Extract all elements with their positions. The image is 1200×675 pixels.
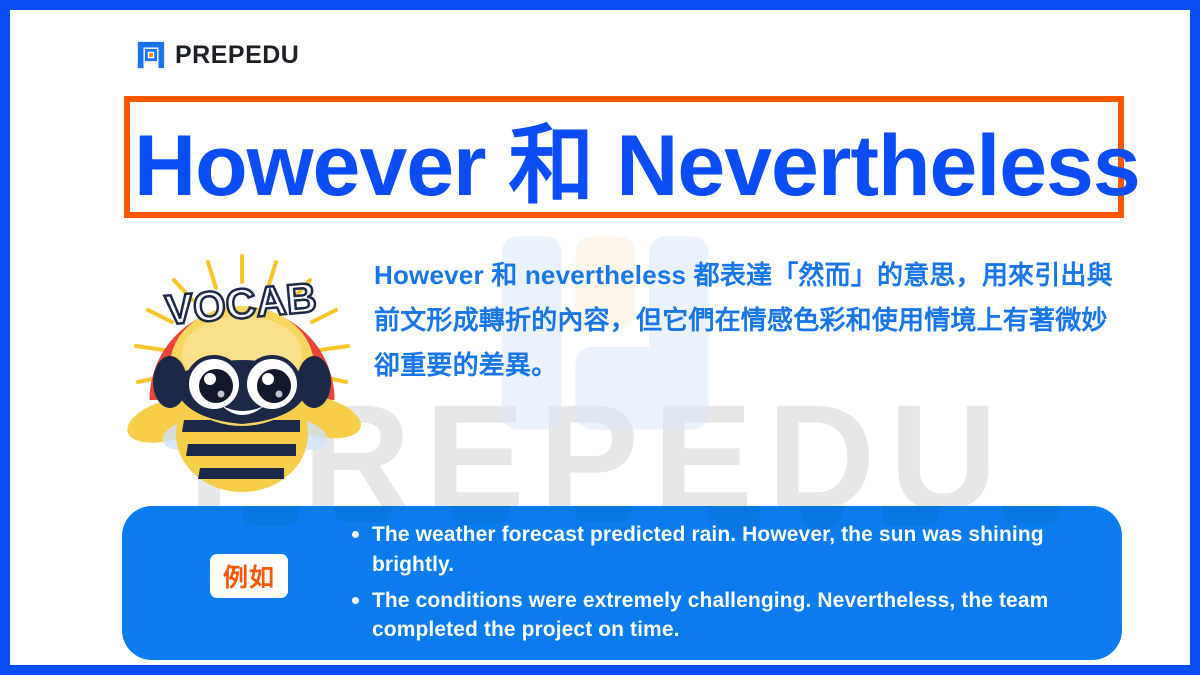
examples-panel: 例如 The weather forecast predicted rain. … (122, 506, 1122, 660)
example-sentence-list: The weather forecast predicted rain. How… (350, 520, 1102, 651)
page-title: However 和 Nevertheless (134, 102, 1134, 212)
list-item: The weather forecast predicted rain. How… (372, 520, 1102, 580)
example-label-badge: 例如 (210, 554, 288, 598)
list-item: The conditions were extremely challengin… (372, 586, 1102, 646)
brand-logo[interactable]: PREPEDU (136, 40, 299, 70)
vocab-bee-mascot-icon: VOCAB (122, 248, 362, 493)
slide-canvas: PREPEDU PREPEDU However 和 Nevertheless (0, 0, 1200, 675)
logo-wordmark: PREPEDU (175, 43, 299, 68)
intro-paragraph: However 和 nevertheless 都表達「然而」的意思，用來引出與前… (374, 253, 1114, 388)
prepedu-logo-mark-icon (136, 40, 166, 70)
